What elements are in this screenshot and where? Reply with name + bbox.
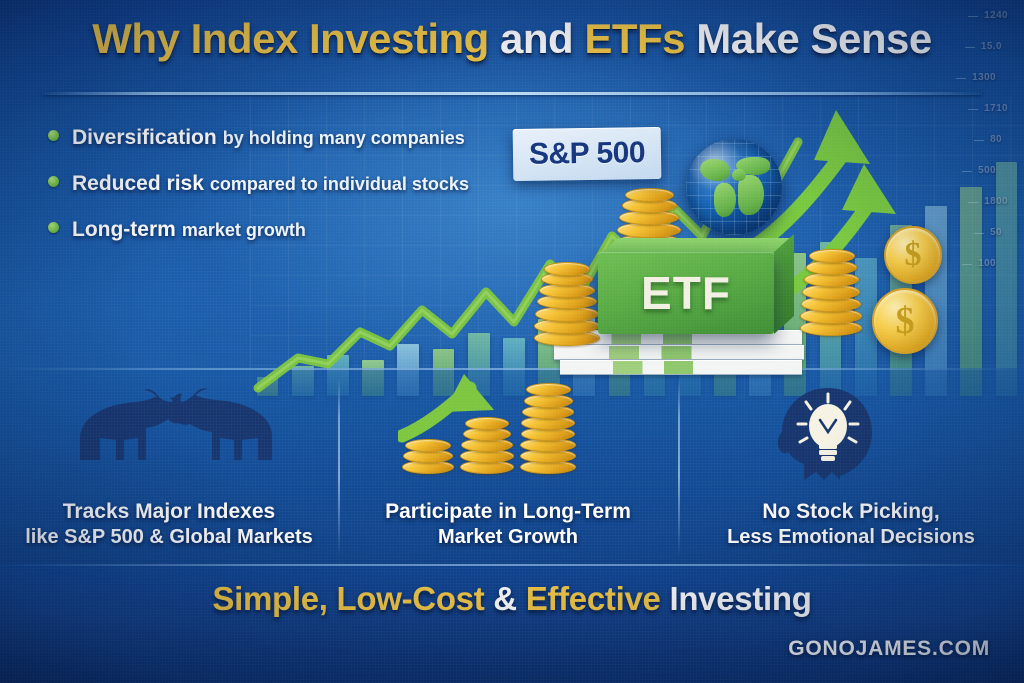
globe-icon	[686, 139, 782, 235]
etf-block-front-face: ETF	[598, 252, 774, 334]
sp500-badge-label: S&P 500	[529, 136, 645, 172]
bull-and-bear-icon	[62, 386, 292, 476]
green-arrow-icon	[398, 374, 518, 444]
benefits-list: Diversification by holding many companie…	[48, 126, 469, 264]
etf-block: ETF	[598, 238, 794, 334]
tagline-segment-1: Simple, Low-Cost	[212, 580, 484, 617]
dollar-symbol: $	[896, 299, 915, 343]
sp500-badge: S&P 500	[513, 127, 662, 181]
poster-header: Why Index Investing and ETFs Make Sense	[0, 16, 1024, 62]
coin-stack-tall-icon	[520, 380, 578, 474]
list-item: Long-term market growth	[48, 218, 469, 242]
bullet-dot-icon	[48, 222, 59, 233]
globe-grid	[686, 139, 782, 235]
bullet-dot-icon	[48, 130, 59, 141]
list-item: Diversification by holding many companie…	[48, 126, 469, 150]
panel-divider-1	[338, 378, 340, 556]
title-segment-4: Make Sense	[696, 15, 931, 62]
footer-tagline: Simple, Low-Cost & Effective Investing	[0, 580, 1024, 618]
bullet-rest-text: compared to individual stocks	[210, 174, 469, 195]
website-url[interactable]: GONOJAMES.COM	[788, 637, 990, 661]
panel-long-term-growth: Participate in Long-Term Market Growth	[338, 378, 678, 558]
dollar-coin-lower-icon: $	[872, 288, 938, 354]
axis-tick-label: 1710	[984, 103, 1008, 114]
list-item: Reduced risk compared to individual stoc…	[48, 172, 469, 196]
title-segment-1: Why Index Investing	[92, 15, 489, 62]
panel-divider-2	[678, 378, 680, 556]
bullet-rest-text: by holding many companies	[223, 128, 465, 149]
page-title: Why Index Investing and ETFs Make Sense	[0, 16, 1024, 62]
panel-caption-line1: No Stock Picking,	[678, 499, 1024, 525]
bullet-strong-text: Reduced risk	[72, 172, 204, 196]
etf-block-side-face	[774, 234, 794, 334]
panel-caption-line1: Tracks Major Indexes	[0, 499, 338, 525]
coin-stack-left-icon	[532, 258, 604, 346]
tagline-segment-4: Investing	[669, 580, 811, 617]
panel-caption: Tracks Major Indexes like S&P 500 & Glob…	[0, 499, 338, 550]
axis-tick-label: 1800	[984, 196, 1008, 207]
bullet-rest-text: market growth	[182, 220, 306, 241]
panel-caption: Participate in Long-Term Market Growth	[338, 499, 678, 550]
footer-top-rule	[0, 564, 1024, 566]
axis-tick-label: 500	[978, 165, 996, 176]
axis-tick-label: 1300	[972, 72, 996, 83]
etf-block-label: ETF	[641, 266, 731, 320]
panel-band-top-rule	[0, 368, 1024, 370]
dollar-coin-upper-icon: $	[884, 226, 942, 284]
axis-tick-label: 50	[990, 227, 1002, 238]
panel-tracks-indexes: Tracks Major Indexes like S&P 500 & Glob…	[0, 378, 338, 558]
title-segment-3: ETFs	[584, 15, 685, 62]
tagline-segment-3: Effective	[526, 580, 661, 617]
title-segment-2: and	[500, 15, 573, 62]
bullet-strong-text: Long-term	[72, 218, 176, 242]
tagline-segment-2: &	[493, 580, 517, 617]
bullet-dot-icon	[48, 176, 59, 187]
panel-caption-line2: Less Emotional Decisions	[678, 525, 1024, 550]
head-lightbulb-icon	[774, 380, 878, 484]
bullet-strong-text: Diversification	[72, 126, 217, 150]
panel-caption-line2: like S&P 500 & Global Markets	[0, 525, 338, 550]
axis-tick-label: 80	[990, 134, 1002, 145]
panel-caption-line2: Market Growth	[338, 525, 678, 550]
panel-caption-line1: Participate in Long-Term	[338, 499, 678, 525]
panel-no-stock-picking: No Stock Picking, Less Emotional Decisio…	[678, 378, 1024, 558]
panel-caption: No Stock Picking, Less Emotional Decisio…	[678, 499, 1024, 550]
infographic-poster: 124015.01300171080500180050100 S&P 500	[0, 0, 1024, 683]
coin-stack-right-icon	[800, 240, 866, 336]
axis-tick-label: 100	[978, 258, 996, 269]
header-divider	[42, 92, 982, 95]
dollar-symbol: $	[905, 236, 922, 274]
